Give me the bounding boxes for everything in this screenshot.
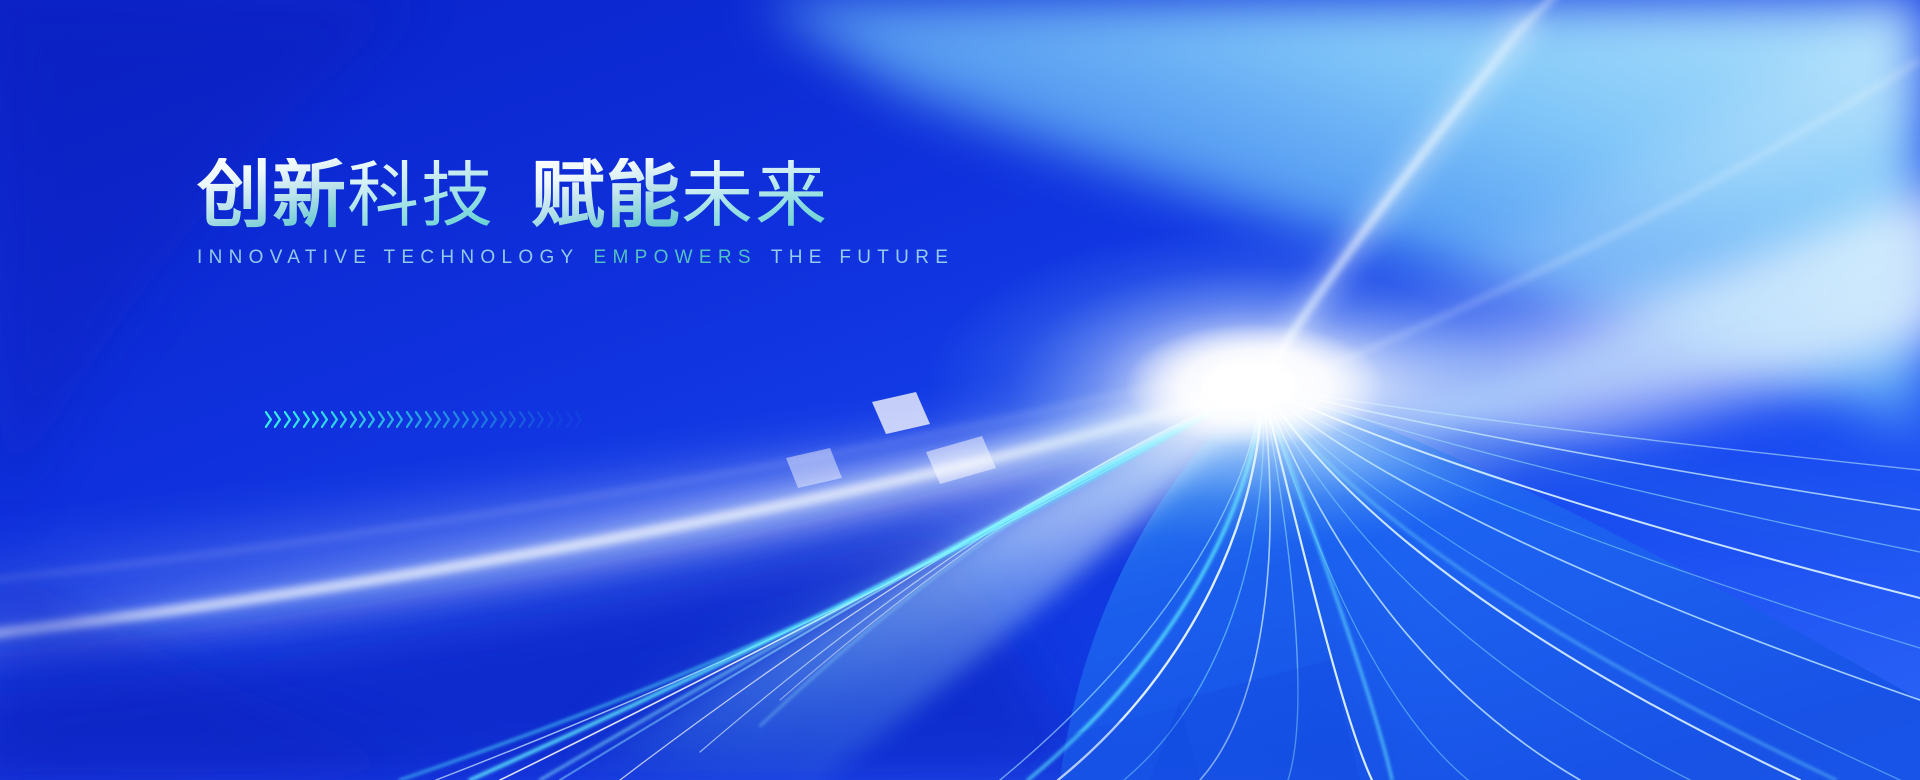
background-artwork: [0, 0, 1920, 780]
light-burst-center: [1204, 361, 1296, 409]
hero-banner: 创新 科技 赋能 未来 INNOVATIVE TECHNOLOGY EMPOWE…: [0, 0, 1920, 780]
